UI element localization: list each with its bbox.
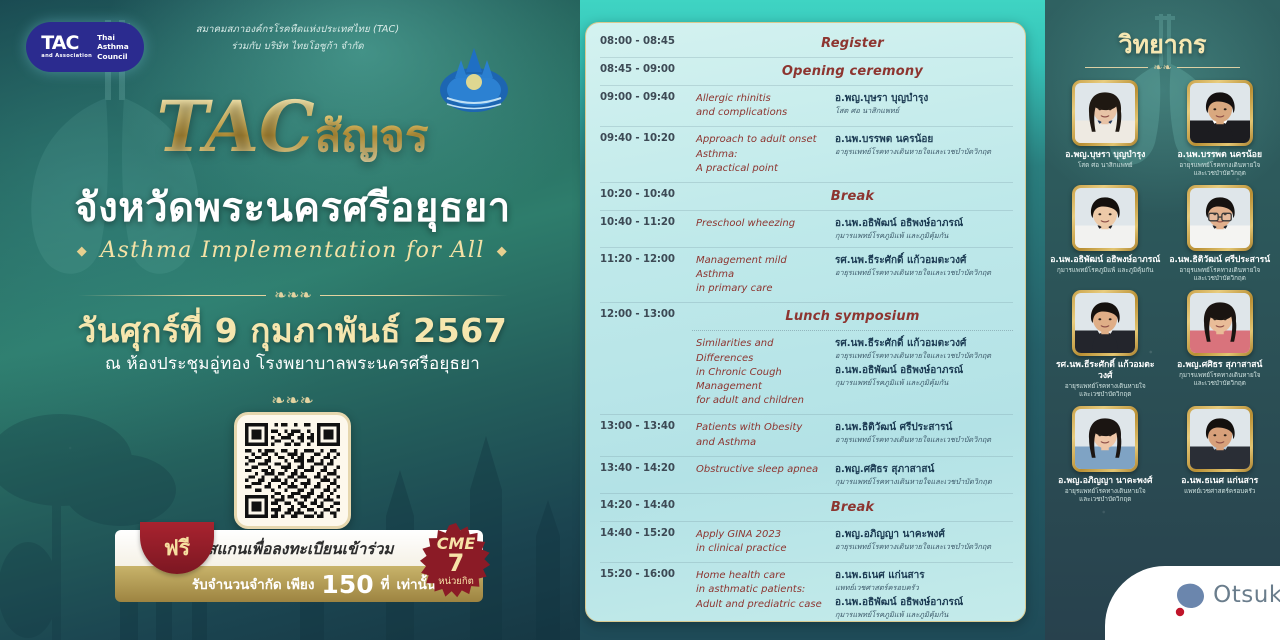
speaker-photo-frame <box>1072 185 1138 251</box>
schedule-speaker: อ.นพ.บรรพต นครน้อยอายุรแพทย์โรคทางเดินหา… <box>835 133 1013 157</box>
speaker-name: อ.นพ.อธิพัฒน์ อธิพงษ์อาภรณ์ <box>1050 255 1160 266</box>
schedule-speaker-name: อ.นพ.อธิพัฒน์ อธิพงษ์อาภรณ์ <box>835 217 1013 231</box>
speakers-divider-right <box>1177 67 1240 68</box>
speaker-photo-frame <box>1072 406 1138 472</box>
qr-flourish-icon: ❧❧❧ <box>0 391 585 411</box>
tac-logo-tagline: and Association <box>41 54 92 59</box>
speaker-portrait <box>1190 293 1250 353</box>
schedule-session-title: Lunch symposium <box>692 303 1013 330</box>
schedule-time: 11:20 - 12:00 <box>600 248 692 303</box>
schedule-session-title: Register <box>692 30 1013 57</box>
speakers-grid: อ.พญ.บุษรา บุญบำรุงโสต ศอ นาสิกแพทย์ อ.น… <box>1049 80 1276 504</box>
speaker-photo-frame <box>1187 290 1253 356</box>
speaker-portrait <box>1075 83 1135 143</box>
speaker-card: อ.พญ.บุษรา บุญบำรุงโสต ศอ นาสิกแพทย์ <box>1049 80 1162 178</box>
divider-line-right <box>320 295 508 296</box>
speaker-card: อ.นพ.อธิพัฒน์ อธิพงษ์อาภรณ์กุมารแพทย์โรค… <box>1049 185 1162 283</box>
speaker-name: อ.พญ.บุษรา บุญบำรุง <box>1065 150 1145 161</box>
conference-poster: TAC and Association ThaiAsthmaCouncil สม… <box>0 0 1280 640</box>
tac-logo-words: ThaiAsthmaCouncil <box>97 33 129 61</box>
organizer-lines: สมาคมสภาองค์กรโรคหืดแห่งประเทศไทย (TAC) … <box>165 22 430 56</box>
schedule-time: 10:20 - 10:40 <box>600 183 692 210</box>
schedule-time: 10:40 - 11:20 <box>600 211 692 247</box>
schedule-speaker-name: อ.นพ.ธิติวัฒน์ ศรีประสารน์ <box>835 421 1013 435</box>
schedule-table: 08:00 - 08:45Register08:45 - 09:00Openin… <box>585 22 1026 622</box>
schedule-speaker: อ.นพ.อธิพัฒน์ อธิพงษ์อาภรณ์กุมารแพทย์โรค… <box>835 364 1013 388</box>
speaker-card: อ.นพ.ธเนศ แก่นสารแพทย์เวชศาสตร์ครอบครัว <box>1164 406 1277 504</box>
speaker-portrait <box>1190 83 1250 143</box>
schedule-session-title: Break <box>692 183 1013 210</box>
schedule-speaker-name: อ.พญ.บุษรา บุญบำรุง <box>835 92 1013 106</box>
schedule-row: 14:20 - 14:40Break <box>600 494 1013 522</box>
schedule-time: 08:45 - 09:00 <box>600 58 692 85</box>
schedule-topic: Approach to adult onset Asthma:A practic… <box>692 127 833 182</box>
schedule-speakers: อ.พญ.บุษรา บุญบำรุงโสต ศอ นาสิกแพทย์ <box>833 86 1013 126</box>
schedule-speaker: อ.พญ.บุษรา บุญบำรุงโสต ศอ นาสิกแพทย์ <box>835 92 1013 116</box>
limit-number: 150 <box>321 570 373 599</box>
speaker-role: โสต ศอ นาสิกแพทย์ <box>1078 162 1133 170</box>
schedule-row: 10:40 - 11:20Preschool wheezingอ.นพ.อธิพ… <box>600 211 1013 248</box>
schedule-topic: Obstructive sleep apnea <box>692 457 833 493</box>
diamond-left-icon: ◆ <box>77 244 88 259</box>
schedule-speaker-role: อายุรแพทย์โรคทางเดินหายใจและเวชบำบัดวิกฤ… <box>835 268 1013 278</box>
schedule-time: 09:00 - 09:40 <box>600 86 692 126</box>
schedule-speaker: อ.พญ.อภิญญา นาคะพงศ์อายุรแพทย์โรคทางเดิน… <box>835 528 1013 552</box>
schedule-speakers: อ.นพ.ธิติวัฒน์ ศรีประสารน์อายุรแพทย์โรคท… <box>833 415 1013 455</box>
hero-panel: TAC and Association ThaiAsthmaCouncil สม… <box>0 0 585 640</box>
speaker-card: อ.พญ.อภิญญา นาคะพงศ์อายุรแพทย์โรคทางเดิน… <box>1049 406 1162 504</box>
schedule-topic: Home health carein asthmatic patients:Ad… <box>692 563 833 622</box>
tac-logo: TAC and Association ThaiAsthmaCouncil <box>26 22 144 72</box>
schedule-row: 12:00 - 13:00Lunch symposium <box>600 303 1013 330</box>
schedule-speaker: อ.นพ.ธิติวัฒน์ ศรีประสารน์อายุรแพทย์โรคท… <box>835 421 1013 445</box>
schedule-time: 13:40 - 14:20 <box>600 457 692 493</box>
speaker-name: รศ.นพ.ธีระศักดิ์ แก้วอมตะวงศ์ <box>1049 360 1162 381</box>
speaker-role: อายุรแพทย์โรคทางเดินหายใจและเวชบำบัดวิกฤ… <box>1065 383 1146 399</box>
schedule-speakers: อ.นพ.ธเนศ แก่นสารแพทย์เวชศาสตร์ครอบครัวอ… <box>833 563 1013 622</box>
cme-credits: 7 <box>448 551 465 576</box>
schedule-time: 15:20 - 16:00 <box>600 563 692 622</box>
subtitle: ◆Asthma Implementation for All◆ <box>0 238 585 263</box>
schedule-speaker-role: อายุรแพทย์โรคทางเดินหายใจและเวชบำบัดวิกฤ… <box>835 147 1013 157</box>
speaker-name: อ.พญ.อภิญญา นาคะพงศ์ <box>1058 476 1152 487</box>
schedule-speaker-name: รศ.นพ.ธีระศักดิ์ แก้วอมตะวงศ์ <box>835 337 1013 351</box>
speaker-role: อายุรแพทย์โรคทางเดินหายใจและเวชบำบัดวิกฤ… <box>1179 267 1260 283</box>
schedule-speaker-name: อ.นพ.อธิพัฒน์ อธิพงษ์อาภรณ์ <box>835 364 1013 378</box>
province-title: จังหวัดพระนครศรีอยุธยา <box>0 175 585 239</box>
schedule-speaker-name: อ.พญ.อภิญญา นาคะพงศ์ <box>835 528 1013 542</box>
limit-prefix: รับจำนวนจำกัด เพียง <box>192 573 315 595</box>
schedule-speaker: อ.พญ.ศศิธร สุภาสาสน์กุมารแพทย์โรคทางเดิน… <box>835 463 1013 487</box>
schedule-speaker-role: อายุรแพทย์โรคทางเดินหายใจและเวชบำบัดวิกฤ… <box>835 351 1013 361</box>
speaker-card: อ.นพ.ธิติวัฒน์ ศรีประสารน์อายุรแพทย์โรคท… <box>1164 185 1277 283</box>
schedule-topic: Similarities and Differencesin Chronic C… <box>692 331 833 414</box>
speaker-role: แพทย์เวชศาสตร์ครอบครัว <box>1184 488 1255 496</box>
page-title: TACสัญจร <box>0 92 585 162</box>
schedule-topic: Management mild Asthmain primary care <box>692 248 833 303</box>
sponsor-logo: Otsuka <box>1105 566 1280 640</box>
speakers-title: วิทยากร <box>1045 25 1280 65</box>
speaker-photo-frame <box>1187 185 1253 251</box>
organizer-line-1: สมาคมสภาองค์กรโรคหืดแห่งประเทศไทย (TAC) <box>165 22 430 39</box>
schedule-row: 11:20 - 12:00Management mild Asthmain pr… <box>600 248 1013 304</box>
schedule-speaker-role: แพทย์เวชศาสตร์ครอบครัว <box>835 583 1013 593</box>
schedule-topic: Patients with Obesityand Asthma <box>692 415 833 455</box>
schedule-speakers: อ.พญ.อภิญญา นาคะพงศ์อายุรแพทย์โรคทางเดิน… <box>833 522 1013 562</box>
speaker-portrait <box>1190 409 1250 469</box>
schedule-row: 14:40 - 15:20Apply GINA 2023in clinical … <box>600 522 1013 563</box>
speaker-role: กุมารแพทย์โรคภูมิแพ้ และภูมิคุ้มกัน <box>1057 267 1154 275</box>
title-thai: สัญจร <box>315 111 429 162</box>
speaker-portrait <box>1190 188 1250 248</box>
schedule-speaker-name: รศ.นพ.ธีระศักดิ์ แก้วอมตะวงศ์ <box>835 254 1013 268</box>
tac-logo-initials: TAC <box>41 32 78 54</box>
schedule-row: 10:20 - 10:40Break <box>600 183 1013 211</box>
schedule-speaker-name: อ.พญ.ศศิธร สุภาสาสน์ <box>835 463 1013 477</box>
schedule-row: 13:40 - 14:20Obstructive sleep apneaอ.พญ… <box>600 457 1013 494</box>
schedule-speaker-name: อ.นพ.ธเนศ แก่นสาร <box>835 569 1013 583</box>
otsuka-mark-icon <box>1173 582 1207 618</box>
speakers-divider: ❧❧ <box>1085 62 1240 73</box>
schedule-speaker: อ.นพ.อธิพัฒน์ อธิพงษ์อาภรณ์กุมารแพทย์โรค… <box>835 217 1013 241</box>
speaker-card: อ.พญ.ศศิธร สุภาสาสน์กุมารแพทย์โรคทางเดิน… <box>1164 290 1277 399</box>
schedule-session-title: Opening ceremony <box>692 58 1013 85</box>
speaker-portrait <box>1075 409 1135 469</box>
cme-unit-label: หน่วยกิต <box>438 577 474 587</box>
speaker-name: อ.นพ.ธิติวัฒน์ ศรีประสารน์ <box>1169 255 1270 266</box>
scan-label: สแกนเพื่อลงทะเบียนเข้าร่วม <box>207 536 394 561</box>
schedule-speaker-role: กุมารแพทย์โรคภูมิแพ้ และภูมิคุ้มกัน <box>835 378 1013 388</box>
decorative-divider: ❧❧❧ <box>78 288 508 303</box>
speaker-name: อ.นพ.บรรพต นครน้อย <box>1178 150 1262 161</box>
speaker-card: รศ.นพ.ธีระศักดิ์ แก้วอมตะวงศ์อายุรแพทย์โ… <box>1049 290 1162 399</box>
schedule-speakers: อ.พญ.ศศิธร สุภาสาสน์กุมารแพทย์โรคทางเดิน… <box>833 457 1013 493</box>
schedule-row: 08:00 - 08:45Register <box>600 30 1013 58</box>
speaker-card: อ.นพ.บรรพต นครน้อยอายุรแพทย์โรคทางเดินหา… <box>1164 80 1277 178</box>
speaker-role: อายุรแพทย์โรคทางเดินหายใจและเวชบำบัดวิกฤ… <box>1179 162 1260 178</box>
schedule-speaker-name: อ.นพ.บรรพต นครน้อย <box>835 133 1013 147</box>
schedule-speaker-role: โสต ศอ นาสิกแพทย์ <box>835 106 1013 116</box>
schedule-row: 08:45 - 09:00Opening ceremony <box>600 58 1013 86</box>
schedule-row: 15:20 - 16:00Home health carein asthmati… <box>600 563 1013 622</box>
schedule-speakers: อ.นพ.อธิพัฒน์ อธิพงษ์อาภรณ์กุมารแพทย์โรค… <box>833 211 1013 247</box>
schedule-speakers: อ.นพ.บรรพต นครน้อยอายุรแพทย์โรคทางเดินหา… <box>833 127 1013 182</box>
subtitle-text: Asthma Implementation for All <box>100 238 485 263</box>
speaker-photo-frame <box>1187 80 1253 146</box>
speaker-portrait <box>1075 293 1135 353</box>
schedule-topic: Allergic rhinitisand complications <box>692 86 833 126</box>
schedule-time <box>600 331 692 414</box>
qr-code[interactable] <box>234 412 351 529</box>
schedule-row: 13:00 - 13:40Patients with Obesityand As… <box>600 415 1013 456</box>
flourish-icon: ❧❧❧ <box>274 288 312 303</box>
speaker-role: อายุรแพทย์โรคทางเดินหายใจและเวชบำบัดวิกฤ… <box>1065 488 1146 504</box>
event-venue: ณ ห้องประชุมอู่ทอง โรงพยาบาลพระนครศรีอยุ… <box>0 350 585 377</box>
schedule-speaker-name: อ.นพ.อธิพัฒน์ อธิพงษ์อาภรณ์ <box>835 596 1013 610</box>
divider-line-left <box>78 295 266 296</box>
speaker-name: อ.พญ.ศศิธร สุภาสาสน์ <box>1177 360 1262 371</box>
schedule-speaker-role: กุมารแพทย์โรคภูมิแพ้ และภูมิคุ้มกัน <box>835 610 1013 620</box>
title-english: TAC <box>156 85 314 168</box>
schedule-speaker: รศ.นพ.ธีระศักดิ์ แก้วอมตะวงศ์อายุรแพทย์โ… <box>835 254 1013 278</box>
organizer-line-2: ร่วมกับ บริษัท ไทยโอซูก้า จำกัด <box>165 39 430 56</box>
schedule-speaker-role: กุมารแพทย์โรคภูมิแพ้ และภูมิคุ้มกัน <box>835 231 1013 241</box>
schedule-topic: Preschool wheezing <box>692 211 833 247</box>
speaker-photo-frame <box>1187 406 1253 472</box>
schedule-speaker-role: อายุรแพทย์โรคทางเดินหายใจและเวชบำบัดวิกฤ… <box>835 435 1013 445</box>
schedule-speakers: รศ.นพ.ธีระศักดิ์ แก้วอมตะวงศ์อายุรแพทย์โ… <box>833 248 1013 303</box>
schedule-time: 09:40 - 10:20 <box>600 127 692 182</box>
schedule-topic: Apply GINA 2023in clinical practice <box>692 522 833 562</box>
schedule-time: 12:00 - 13:00 <box>600 303 692 330</box>
speaker-photo-frame <box>1072 290 1138 356</box>
tac-logo-mark: TAC and Association <box>41 34 92 59</box>
speaker-portrait <box>1075 188 1135 248</box>
schedule-time: 08:00 - 08:45 <box>600 30 692 57</box>
schedule-session-title: Break <box>692 494 1013 521</box>
schedule-speaker-role: กุมารแพทย์โรคทางเดินหายใจและเวชบำบัดวิกฤ… <box>835 477 1013 487</box>
speaker-role: กุมารแพทย์โรคทางเดินหายใจและเวชบำบัดวิกฤ… <box>1179 372 1260 388</box>
schedule-panel-background: 08:00 - 08:45Register08:45 - 09:00Openin… <box>580 0 1045 640</box>
limit-unit: ที่ <box>381 573 390 595</box>
diamond-right-icon: ◆ <box>497 244 508 259</box>
schedule-speaker: อ.นพ.อธิพัฒน์ อธิพงษ์อาภรณ์กุมารแพทย์โรค… <box>835 596 1013 620</box>
sponsor-name: Otsuka <box>1213 582 1280 608</box>
schedule-time: 14:40 - 15:20 <box>600 522 692 562</box>
schedule-row: 09:00 - 09:40Allergic rhinitisand compli… <box>600 86 1013 127</box>
speakers-panel: วิทยากร ❧❧ อ.พญ.บุษรา บุญบำรุงโสต ศอ นาส… <box>1045 0 1280 640</box>
schedule-speakers: รศ.นพ.ธีระศักดิ์ แก้วอมตะวงศ์อายุรแพทย์โ… <box>833 331 1013 414</box>
qr-code-graphic <box>245 423 340 518</box>
schedule-time: 13:00 - 13:40 <box>600 415 692 455</box>
schedule-time: 14:20 - 14:40 <box>600 494 692 521</box>
cme-badge: CME 7 หน่วยกิต <box>417 522 495 600</box>
speakers-flourish-icon: ❧❧ <box>1153 62 1171 73</box>
speaker-photo-frame <box>1072 80 1138 146</box>
schedule-row: 09:40 - 10:20Approach to adult onset Ast… <box>600 127 1013 183</box>
schedule-row: Similarities and Differencesin Chronic C… <box>600 331 1013 415</box>
speakers-divider-left <box>1085 67 1148 68</box>
schedule-speaker: รศ.นพ.ธีระศักดิ์ แก้วอมตะวงศ์อายุรแพทย์โ… <box>835 337 1013 361</box>
schedule-speaker-role: อายุรแพทย์โรคทางเดินหายใจและเวชบำบัดวิกฤ… <box>835 542 1013 552</box>
schedule-speaker: อ.นพ.ธเนศ แก่นสารแพทย์เวชศาสตร์ครอบครัว <box>835 569 1013 593</box>
speaker-name: อ.นพ.ธเนศ แก่นสาร <box>1181 476 1258 487</box>
